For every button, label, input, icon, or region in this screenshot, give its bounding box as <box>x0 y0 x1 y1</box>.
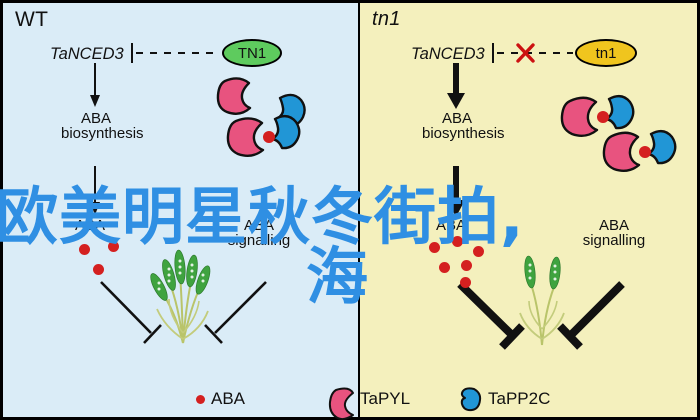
tn1-inhibitor-left-line <box>460 284 512 335</box>
wt-arrowhead-1 <box>90 95 100 107</box>
legend-label-tapp2c: TaPP2C <box>488 389 550 409</box>
legend-item-tapp2c: TaPP2C <box>460 387 550 411</box>
tn1-aba-dot <box>452 236 463 247</box>
wt-complex-aba-dot <box>263 131 275 143</box>
legend-aba: ABA <box>196 384 261 414</box>
wt-aba-dot <box>79 244 90 255</box>
wt-tapyl-free <box>218 78 250 113</box>
tn1-complex2-tapyl <box>604 133 639 171</box>
wt-aba-dot <box>93 264 104 275</box>
tn1-aba-dot <box>473 246 484 257</box>
wt-complex-tapp2c <box>272 116 299 148</box>
tn1-aba-dot <box>439 262 450 273</box>
figure-root: WT TaNCED3 TN1 <box>0 0 700 420</box>
legend-item-aba: ABA <box>196 389 245 409</box>
tapp2c-blob-icon <box>460 387 482 411</box>
wt-inhibitor-left-line <box>101 282 151 333</box>
wt-inhibitor-right-line <box>215 282 266 333</box>
tn1-vector-layer <box>360 3 700 420</box>
wt-complex-tapyl <box>228 118 263 155</box>
wt-arrowhead-2 <box>90 202 100 215</box>
tn1-plant <box>520 256 564 345</box>
tn1-complex2-aba-dot <box>639 146 651 158</box>
tn1-aba-dot <box>461 260 472 271</box>
tapyl-blob-icon <box>332 387 354 411</box>
panel-wt: WT TaNCED3 TN1 <box>0 0 358 420</box>
tn1-aba-dot <box>460 277 471 288</box>
legend-item-tapyl: TaPYL <box>332 387 410 411</box>
tn1-inhibitor-right-line <box>571 284 622 335</box>
tn1-arrowhead-1 <box>447 93 465 109</box>
legend-tapp2c: TaPP2C <box>460 384 566 414</box>
legend-tapyl: TaPYL <box>332 384 426 414</box>
tn1-complex1-aba-dot <box>597 111 609 123</box>
tn1-complex1-tapp2c <box>606 96 633 128</box>
tn1-complex2-tapp2c <box>648 131 675 163</box>
wt-aba-dot <box>108 241 119 252</box>
wt-aba-biosynthesis: ABA biosynthesis <box>61 111 131 142</box>
tn1-aba-dot <box>429 242 440 253</box>
tn1-aba-signalling: ABA signalling <box>574 218 654 249</box>
wt-aba-pool-label: ABA <box>75 218 105 233</box>
tn1-arrowhead-2 <box>447 200 465 217</box>
wt-vector-layer <box>3 3 361 420</box>
legend-label-aba: ABA <box>211 389 245 409</box>
tn1-complex1-tapyl <box>562 98 597 136</box>
panel-tn1: tn1 TaNCED3 tn1 <box>358 0 700 420</box>
tn1-aba-pool-label: ABA <box>436 218 466 233</box>
wt-aba-signalling: ABA signalling <box>219 218 299 249</box>
legend-label-tapyl: TaPYL <box>360 389 410 409</box>
tn1-aba-biosynthesis: ABA biosynthesis <box>422 111 492 142</box>
aba-dot-icon <box>196 395 205 404</box>
